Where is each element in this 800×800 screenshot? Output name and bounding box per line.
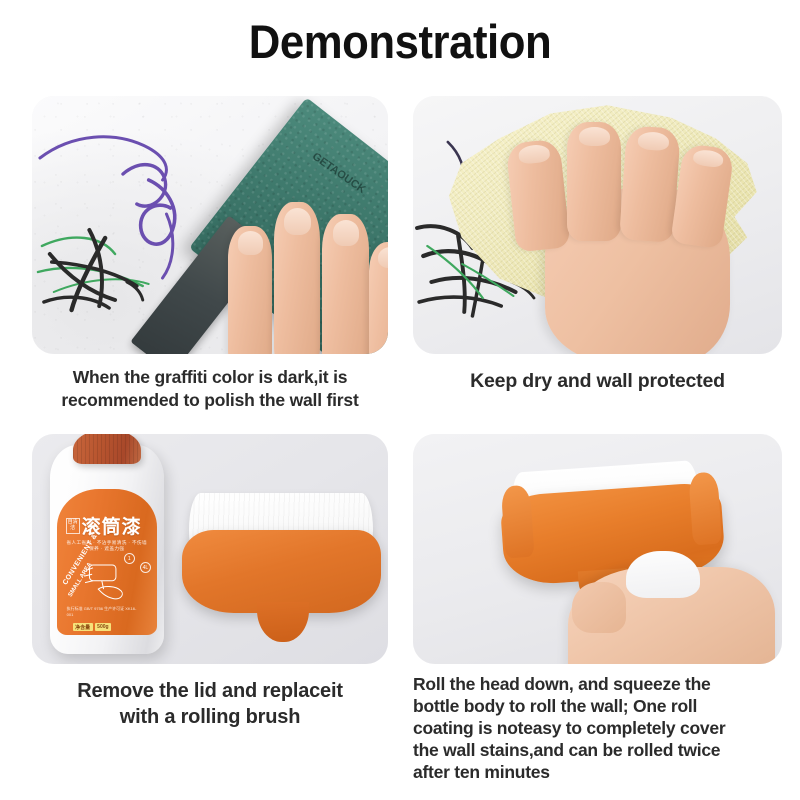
bottle-cap-graphic [73, 434, 141, 464]
roller-end-cap-right-graphic [688, 471, 722, 545]
hand-graphic [568, 567, 775, 664]
step-row-bottom: 自清洁 滚筒漆 省人工省时 · 不沾手易清洗 · 不伤墙保养 · 遮盖力强 [0, 434, 800, 783]
hand-graphic [224, 173, 388, 354]
pinched-bottle-graphic [626, 551, 700, 597]
step-cell-4: Roll the head down, and squeeze the bott… [400, 434, 800, 783]
roller-head-graphic [182, 493, 381, 636]
roller-stem-graphic [257, 602, 309, 642]
fingernail-graphic [378, 247, 388, 268]
step-cell-2: Keep dry and wall protected [400, 96, 800, 412]
step-caption-4: Roll the head down, and squeeze the bott… [413, 673, 782, 783]
caption-line: When the graffiti color is dark,it is [32, 366, 388, 389]
sanding-sponge-on-graffiti-wall-photo: GETAOUCK JHS 2 [32, 96, 388, 354]
caption-line: Roll the head down, and squeeze the [413, 673, 782, 695]
fingernail-graphic [333, 220, 360, 246]
fingernail-graphic [692, 148, 724, 168]
label-weight-title: 净含量 [73, 623, 93, 631]
step-caption-1: When the graffiti color is dark,it is re… [32, 366, 388, 412]
finger-graphic [322, 214, 368, 354]
label-weight-value: 500g [95, 623, 111, 631]
paint-bottle-graphic: 自清洁 滚筒漆 省人工省时 · 不沾手易清洗 · 不伤墙保养 · 遮盖力强 [50, 445, 164, 654]
caption-line: coating is noteasy to completely cover [413, 717, 782, 739]
step-cell-1: GETAOUCK JHS 2 [0, 96, 400, 412]
rolling-paint-onto-wall-photo [413, 434, 782, 664]
fingernail-graphic [579, 127, 610, 146]
label-circle-badge-2: 4L [140, 562, 151, 573]
label-sub-text: 省人工省时 · 不沾手易清洗 · 不伤墙保养 · 遮盖力强 [65, 540, 149, 552]
demonstration-step-grid: GETAOUCK JHS 2 [0, 96, 800, 783]
caption-line: bottle body to roll the wall; One roll [413, 695, 782, 717]
fingernail-graphic [638, 131, 670, 151]
step-row-top: GETAOUCK JHS 2 [0, 96, 800, 412]
label-side-badge: 自清洁 [66, 518, 80, 534]
finger-graphic [567, 122, 621, 241]
fingernail-graphic [518, 144, 551, 165]
paint-bottle-and-roller-head-photo: 自清洁 滚筒漆 省人工省时 · 不沾手易清洗 · 不伤墙保养 · 遮盖力强 [32, 434, 388, 664]
finger-graphic [228, 226, 272, 354]
step-cell-3: 自清洁 滚筒漆 省人工省时 · 不沾手易清洗 · 不伤墙保养 · 遮盖力强 [0, 434, 400, 783]
bottle-label-graphic: 自清洁 滚筒漆 省人工省时 · 不沾手易清洗 · 不伤墙保养 · 遮盖力强 [57, 489, 157, 636]
wiping-wall-with-yellow-cloth-photo [413, 96, 782, 354]
roller-frame-graphic [182, 530, 381, 613]
finger-graphic [274, 202, 320, 354]
step-caption-2: Keep dry and wall protected [413, 369, 782, 394]
caption-line: with a rolling brush [32, 704, 388, 730]
caption-line: after ten minutes [413, 761, 782, 783]
label-footer-text: 执行标准 GB/T 9756 生产许可证 XK16-001 [67, 606, 137, 618]
page-title: Demonstration [28, 0, 772, 65]
caption-line: Remove the lid and replaceit [32, 678, 388, 704]
label-weight-badge: 净含量 500g [73, 623, 111, 631]
caption-line: the wall stains,and can be rolled twice [413, 739, 782, 761]
finger-graphic [369, 242, 388, 354]
hand-graphic [502, 127, 746, 354]
step-caption-3: Remove the lid and replaceit with a roll… [32, 678, 388, 730]
finger-graphic [506, 139, 571, 253]
fingernail-graphic [284, 208, 311, 235]
caption-line: Keep dry and wall protected [413, 369, 782, 394]
fingernail-graphic [238, 231, 264, 254]
thumb-graphic [572, 582, 626, 633]
caption-line: recommended to polish the wall first [32, 389, 388, 412]
